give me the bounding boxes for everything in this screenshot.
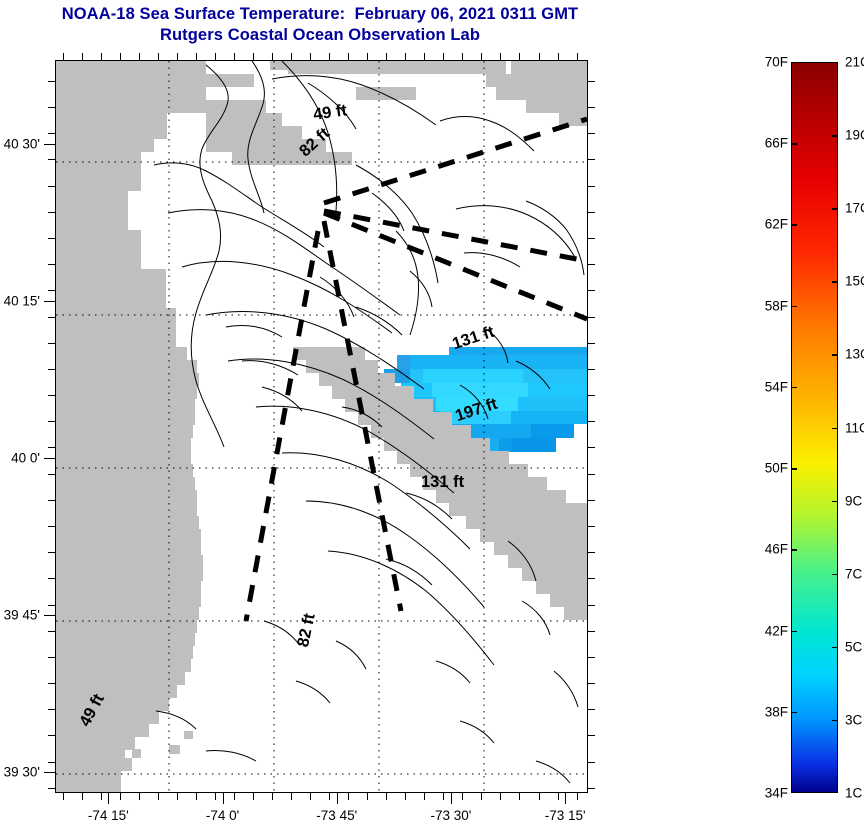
colorbar-tickmark-f-38 [791,712,797,714]
x-tick-minor [253,793,254,800]
x-tick-minor [177,53,178,60]
colorbar-tickmark-f-66 [791,143,797,145]
x-tick-minor [139,53,140,60]
colorbar-tick-c-9: 9C [845,493,862,508]
colorbar-tickmark-f-58 [791,306,797,308]
x-tick-minor [519,53,520,60]
colorbar-tick-c-5: 5C [845,639,862,654]
y-tick-minor [48,186,55,187]
sst-map-panel[interactable]: 49 ft 82 ft 131 ft 197 ft 131 ft 82 ft 4… [55,60,588,793]
y-tick-minor [588,421,595,422]
y-tick-minor [48,788,55,789]
y-tick-minor [48,343,55,344]
x-tick-minor [234,53,235,60]
colorbar-tickmark-c-11 [832,428,838,430]
colorbar-tick-c-1: 1C [845,786,862,801]
y-tick-minor [588,186,595,187]
x-tick-minor [310,793,311,800]
colorbar-tick-f-50: 50F [756,461,788,476]
x-tick-minor [481,793,482,800]
x-tick-minor [82,53,83,60]
x-tick-minor [329,793,330,800]
colorbar-tickmark-c-15 [832,281,838,283]
x-tick-minor [577,53,578,60]
y-tick-minor [48,290,55,291]
x-tick-minor [63,53,64,60]
y-axis-label-2: 40 0' [0,450,40,465]
colorbar-tickmark-f-62 [791,224,797,226]
colorbar-tick-c-7: 7C [845,566,862,581]
y-axis-label-0: 40 30' [0,136,40,151]
map-clip: 49 ft 82 ft 131 ft 197 ft 131 ft 82 ft 4… [56,61,587,792]
y-tick-minor [588,709,595,710]
title-line-2: Rutgers Coastal Ocean Observation Lab [0,25,640,46]
colorbar-tick-f-46: 46F [756,542,788,557]
colorbar-tick-f-38: 38F [756,704,788,719]
colorbar-tick-c-17: 17C [845,201,864,216]
y-tick-minor [48,264,55,265]
x-tick-minor [443,793,444,800]
y-tick-minor [588,238,595,239]
y-tick-minor [588,735,595,736]
y-tick-minor [48,238,55,239]
y-tick-minor [588,290,595,291]
x-axis-label-4: -73 15' [545,808,586,823]
y-tick-minor [48,395,55,396]
colorbar-tickmark-c-7 [832,574,838,576]
x-tick-minor [348,793,349,800]
y-tick-minor [48,447,55,448]
colorbar-tickmark-c-9 [832,501,838,503]
colorbar-tick-f-62: 62F [756,217,788,232]
map-vector-layer [56,61,587,792]
y-tick-minor [588,317,595,318]
y-tick-minor [588,447,595,448]
x-tick-minor [101,793,102,800]
y-tick-minor [48,107,55,108]
y-tick-minor [588,212,595,213]
y-tick-minor [48,526,55,527]
y-tick-minor [588,81,595,82]
x-tick-major [108,793,109,804]
x-tick-minor [386,793,387,800]
y-tick-minor [48,762,55,763]
x-tick-minor [139,793,140,800]
y-tick-minor [48,421,55,422]
y-tick-minor [48,631,55,632]
y-tick-minor [588,107,595,108]
x-tick-minor [424,53,425,60]
x-tick-minor [310,53,311,60]
y-tick-major [44,301,55,302]
y-tick-minor [48,474,55,475]
x-tick-minor [424,793,425,800]
x-tick-minor [386,53,387,60]
x-tick-minor [348,53,349,60]
colorbar-tickmark-c-19 [832,135,838,137]
x-axis-label-1: -74 0' [206,808,239,823]
x-tick-minor [329,53,330,60]
colorbar-tick-c-3: 3C [845,712,862,727]
y-tick-minor [588,500,595,501]
x-tick-major [451,793,452,804]
x-tick-minor [405,53,406,60]
colorbar-tick-f-70: 70F [756,55,788,70]
x-tick-minor [120,53,121,60]
x-axis-label-3: -73 30' [431,808,472,823]
y-tick-minor [48,683,55,684]
y-tick-minor [48,605,55,606]
y-tick-minor [48,369,55,370]
colorbar-tick-f-66: 66F [756,136,788,151]
y-axis-label-3: 39 45' [0,607,40,622]
x-tick-minor [481,53,482,60]
y-tick-major [44,144,55,145]
x-tick-minor [158,793,159,800]
x-tick-minor [500,793,501,800]
x-tick-minor [291,53,292,60]
x-tick-minor [291,793,292,800]
x-tick-minor [519,793,520,800]
colorbar-tick-f-42: 42F [756,623,788,638]
x-tick-minor [215,53,216,60]
x-tick-minor [158,53,159,60]
y-tick-major [44,615,55,616]
x-tick-minor [272,793,273,800]
y-tick-minor [48,133,55,134]
y-tick-minor [588,343,595,344]
y-tick-minor [588,605,595,606]
y-tick-minor [48,578,55,579]
x-tick-minor [539,53,540,60]
y-tick-minor [48,500,55,501]
x-tick-major [223,793,224,804]
y-tick-minor [48,735,55,736]
colorbar-tickmark-f-42 [791,631,797,633]
y-tick-minor [588,526,595,527]
x-tick-minor [405,793,406,800]
colorbar-tick-c-13: 13C [845,347,864,362]
x-tick-minor [120,793,121,800]
y-tick-minor [588,369,595,370]
y-tick-minor [48,81,55,82]
x-tick-minor [196,53,197,60]
x-tick-minor [558,53,559,60]
y-tick-minor [48,709,55,710]
x-tick-minor [462,793,463,800]
x-tick-major [337,793,338,804]
colorbar-tick-c-15: 15C [845,274,864,289]
y-tick-minor [588,578,595,579]
colorbar-tick-c-21: 21C [845,55,864,70]
x-tick-minor [367,53,368,60]
y-tick-minor [588,133,595,134]
x-tick-minor [500,53,501,60]
colorbar-tick-f-58: 58F [756,298,788,313]
colorbar-tickmark-f-54 [791,387,797,389]
y-tick-minor [588,474,595,475]
x-tick-minor [253,53,254,60]
y-tick-minor [48,317,55,318]
x-tick-major [565,793,566,804]
x-tick-minor [234,793,235,800]
x-tick-minor [196,793,197,800]
y-tick-minor [588,762,595,763]
y-tick-minor [588,657,595,658]
colorbar-tickmark-c-5 [832,647,838,649]
x-tick-minor [443,53,444,60]
x-tick-minor [462,53,463,60]
x-tick-minor [101,53,102,60]
y-tick-minor [588,264,595,265]
y-tick-major [44,772,55,773]
page-title: NOAA-18 Sea Surface Temperature: Februar… [0,4,640,46]
y-tick-minor [48,552,55,553]
colorbar-tickmark-f-46 [791,549,797,551]
y-tick-minor [48,159,55,160]
y-tick-major [44,458,55,459]
y-tick-minor [588,159,595,160]
colorbar-tick-f-34: 34F [756,786,788,801]
colorbar-gradient [792,63,837,792]
depth-label-131ft-south: 131 ft [421,473,464,492]
x-tick-minor [177,793,178,800]
x-tick-minor [82,793,83,800]
y-tick-minor [48,657,55,658]
y-tick-minor [48,212,55,213]
x-tick-minor [577,793,578,800]
y-tick-minor [588,395,595,396]
x-axis-label-0: -74 15' [88,808,129,823]
y-tick-minor [588,788,595,789]
x-tick-minor [63,793,64,800]
x-tick-minor [272,53,273,60]
x-tick-minor [367,793,368,800]
colorbar[interactable] [791,62,838,793]
y-tick-minor [588,552,595,553]
y-tick-minor [588,683,595,684]
title-line-1: NOAA-18 Sea Surface Temperature: Februar… [0,4,640,25]
colorbar-tickmark-c-3 [832,720,838,722]
y-tick-minor [588,631,595,632]
colorbar-tickmark-c-13 [832,354,838,356]
colorbar-tickmark-f-50 [791,468,797,470]
x-axis-label-2: -73 45' [316,808,357,823]
colorbar-tickmark-c-17 [832,208,838,210]
x-tick-minor [539,793,540,800]
colorbar-tick-c-19: 19C [845,128,864,143]
x-tick-minor [558,793,559,800]
x-tick-minor [215,793,216,800]
y-axis-label-4: 39 30' [0,765,40,780]
y-axis-label-1: 40 15' [0,293,40,308]
colorbar-tick-c-11: 11C [845,420,864,435]
colorbar-tick-f-54: 54F [756,379,788,394]
